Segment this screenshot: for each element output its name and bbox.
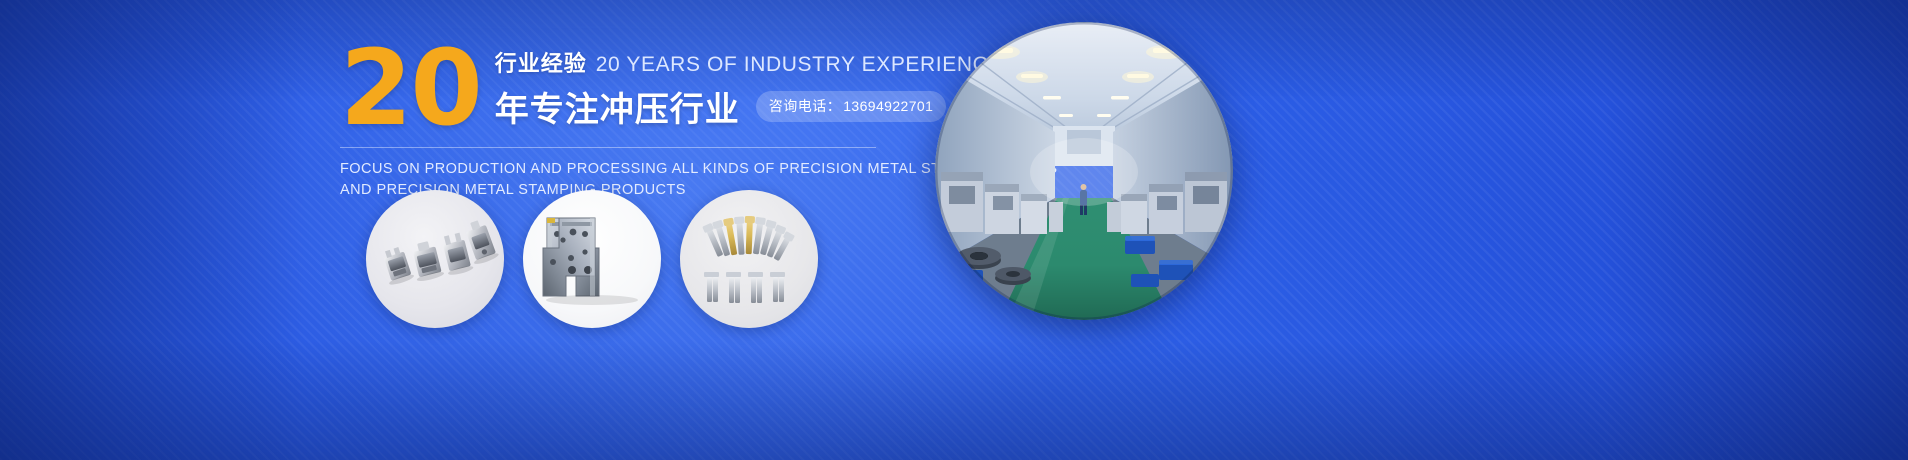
phone-badge-number: 13694922701: [843, 98, 933, 114]
headline-row: 20 行业经验 20 YEARS OF INDUSTRY EXPERIENCE …: [340, 40, 900, 133]
headline-text-group: 行业经验 20 YEARS OF INDUSTRY EXPERIENCE 年专注…: [495, 40, 1003, 131]
product-photo-group: [366, 190, 818, 328]
promo-banner: 20 行业经验 20 YEARS OF INDUSTRY EXPERIENCE …: [0, 0, 1908, 460]
experience-label-en: 20 YEARS OF INDUSTRY EXPERIENCE: [596, 53, 1003, 77]
years-number: 20: [340, 44, 481, 133]
metal-terminal-pins-photo: [680, 190, 818, 328]
headline-line-1: 行业经验 20 YEARS OF INDUSTRY EXPERIENCE: [495, 46, 1003, 78]
focus-industry-label-cn: 年专注冲压行业: [495, 82, 740, 131]
usb-connector-parts-photo: [366, 190, 504, 328]
experience-label-cn: 行业经验: [495, 46, 587, 78]
phone-badge[interactable]: 咨询电话： 13694922701: [756, 91, 947, 122]
headline-block: 20 行业经验 20 YEARS OF INDUSTRY EXPERIENCE …: [340, 40, 900, 201]
progressive-stamping-die-photo: [523, 190, 661, 328]
phone-badge-label: 咨询电话：: [769, 96, 842, 116]
factory-workshop-interior-photo: [935, 22, 1233, 320]
headline-line-2: 年专注冲压行业 咨询电话： 13694922701: [495, 82, 1003, 131]
subtitle-line-1: FOCUS ON PRODUCTION AND PROCESSING ALL K…: [340, 159, 900, 180]
